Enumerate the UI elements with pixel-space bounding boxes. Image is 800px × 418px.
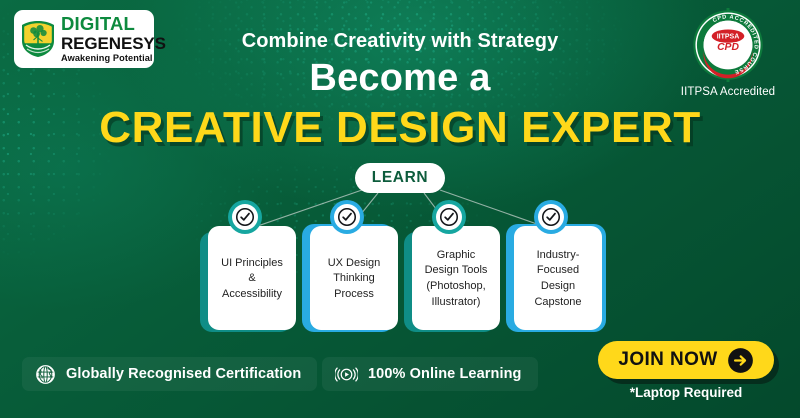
course-modules-list: UI Principles & Accessibility UX Design …: [0, 214, 800, 334]
module-card[interactable]: Industry- Focused Design Capstone: [506, 214, 602, 332]
card-label: UI Principles & Accessibility: [221, 256, 283, 303]
feature-label: Globally Recognised Certification: [66, 366, 301, 382]
module-card[interactable]: Graphic Design Tools (Photoshop, Illustr…: [404, 214, 500, 332]
card-badge: [432, 200, 466, 234]
card-surface: Industry- Focused Design Capstone: [514, 226, 602, 330]
globe-icon: [35, 364, 56, 385]
feature-label: 100% Online Learning: [368, 366, 522, 382]
card-label: Industry- Focused Design Capstone: [534, 248, 581, 310]
card-label: UX Design Thinking Process: [328, 256, 381, 303]
check-circle-icon: [540, 206, 562, 228]
check-circle-icon: [438, 206, 460, 228]
headline-line-2: CREATIVE DESIGN EXPERT: [0, 103, 800, 153]
card-badge: [228, 200, 262, 234]
broadcast-play-icon: [335, 364, 358, 385]
card-badge: [330, 200, 364, 234]
join-now-button[interactable]: JOIN NOW: [598, 341, 774, 379]
feature-globally-recognised: Globally Recognised Certification: [22, 357, 317, 391]
join-now-label: JOIN NOW: [618, 349, 717, 371]
headline-eyebrow: Combine Creativity with Strategy: [0, 30, 800, 53]
module-card[interactable]: UI Principles & Accessibility: [200, 214, 296, 332]
card-surface: UI Principles & Accessibility: [208, 226, 296, 330]
headline-line-1: Become a: [0, 57, 800, 100]
laptop-required-note: *Laptop Required: [598, 385, 774, 400]
promotional-banner: DIGITAL REGENESYS Awakening Potential: [0, 0, 800, 418]
arrow-right-circle-icon: [727, 347, 754, 374]
card-label: Graphic Design Tools (Photoshop, Illustr…: [425, 248, 488, 310]
card-badge: [534, 200, 568, 234]
check-circle-icon: [336, 206, 358, 228]
check-circle-icon: [234, 206, 256, 228]
card-surface: UX Design Thinking Process: [310, 226, 398, 330]
module-card[interactable]: UX Design Thinking Process: [302, 214, 398, 332]
feature-online-learning: 100% Online Learning: [322, 357, 538, 391]
learn-pill: LEARN: [355, 163, 445, 193]
card-surface: Graphic Design Tools (Photoshop, Illustr…: [412, 226, 500, 330]
